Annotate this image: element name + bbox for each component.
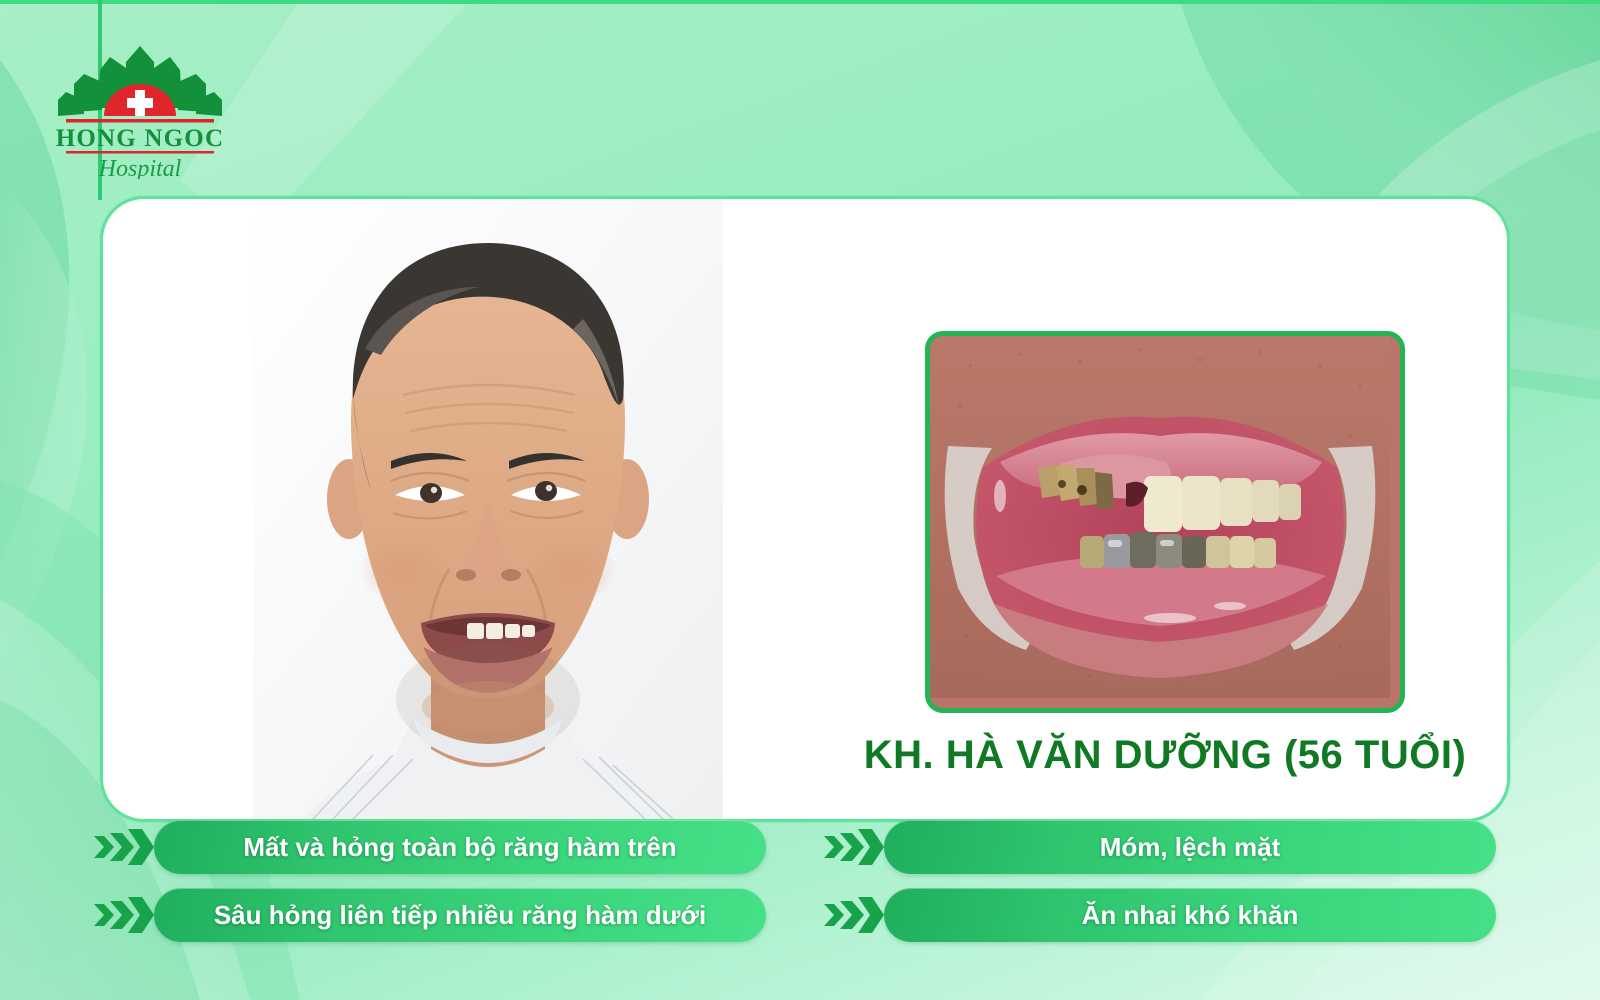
symptom-row[interactable]: Sâu hỏng liên tiếp nhiều răng hàm dưới [92,888,766,942]
symptom-pill[interactable]: Mất và hỏng toàn bộ răng hàm trên [154,820,766,874]
symptom-list-right: Móm, lệch mặt Ăn nhai khó khăn [822,820,1496,942]
symptom-row[interactable]: Móm, lệch mặt [822,820,1496,874]
intraoral-photo [925,331,1405,713]
patient-name-title: KH. HÀ VĂN DƯỠNG (56 TUỔI) [845,733,1485,778]
symptom-pill[interactable]: Ăn nhai khó khăn [884,888,1496,942]
triple-chevron-icon [92,888,154,942]
patient-portrait-photo [253,199,723,819]
logo-sub-text: Hospital [98,156,182,179]
top-accent-line [0,0,1600,4]
symptom-row[interactable]: Mất và hỏng toàn bộ răng hàm trên [92,820,766,874]
hospital-logo: HONG NGOC Hospital [48,24,233,179]
triple-chevron-icon [822,888,884,942]
lotus-crown-with-red-cross-icon: HONG NGOC Hospital [48,24,233,179]
symptom-list-left: Mất và hỏng toàn bộ răng hàm trên Sâu hỏ… [92,820,766,942]
triple-chevron-icon [822,820,884,874]
symptom-pill[interactable]: Móm, lệch mặt [884,820,1496,874]
triple-chevron-icon [92,820,154,874]
symptom-pill[interactable]: Sâu hỏng liên tiếp nhiều răng hàm dưới [154,888,766,942]
patient-case-card: KH. HÀ VĂN DƯỠNG (56 TUỔI) [100,196,1510,822]
symptom-row[interactable]: Ăn nhai khó khăn [822,888,1496,942]
logo-name-text: HONG NGOC [56,125,224,152]
